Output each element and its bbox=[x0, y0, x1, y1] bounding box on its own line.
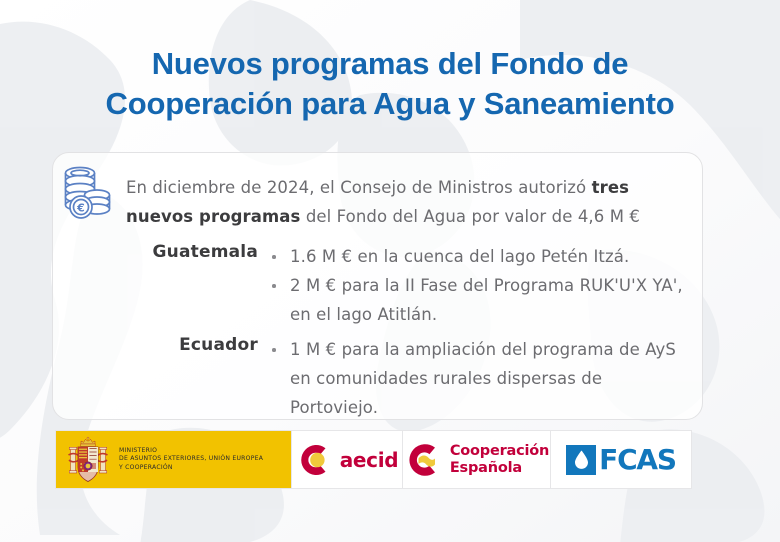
ministerio-line-1: MINISTERIO bbox=[119, 447, 263, 456]
country-label-ecuador: Ecuador bbox=[118, 335, 258, 355]
logo-bar: MINISTERIO DE ASUNTOS EXTERIORES, UNIÓN … bbox=[55, 430, 692, 489]
infographic-page: Nuevos programas del Fondo de Cooperació… bbox=[0, 0, 780, 542]
ministerio-text: MINISTERIO DE ASUNTOS EXTERIORES, UNIÓN … bbox=[119, 447, 263, 473]
ministerio-line-2: DE ASUNTOS EXTERIORES, UNIÓN EUROPEA bbox=[119, 455, 263, 464]
bullet-list-guatemala: 1.6 M € en la cuenca del lago Petén Itzá… bbox=[268, 242, 686, 329]
svg-text:€: € bbox=[76, 202, 85, 215]
logo-aecid: aecid bbox=[291, 431, 402, 488]
aecid-c-mark-icon bbox=[296, 442, 332, 478]
coop-line-1: Cooperación bbox=[450, 443, 549, 460]
list-item: 2 M € para la II Fase del Programa RUK'U… bbox=[268, 271, 686, 329]
water-drop-icon bbox=[566, 445, 596, 475]
list-item: 1 M € para la ampliación del programa de… bbox=[268, 335, 686, 422]
aecid-wordmark: aecid bbox=[340, 448, 399, 472]
page-title-line-1: Nuevos programas del Fondo de bbox=[0, 44, 780, 84]
intro-part-1: En diciembre de 2024, el Consejo de Mini… bbox=[126, 178, 592, 197]
intro-part-2: del Fondo del Agua por valor de 4,6 M € bbox=[300, 207, 640, 226]
page-title: Nuevos programas del Fondo de Cooperació… bbox=[0, 44, 780, 124]
coin-stack-euro-icon: € bbox=[56, 162, 118, 224]
cooperacion-espanola-wordmark: Cooperación Española bbox=[450, 443, 549, 477]
fcas-wordmark: FCAS bbox=[599, 443, 676, 476]
ministerio-line-3: Y COOPERACIÓN bbox=[119, 464, 263, 473]
list-item: 1.6 M € en la cuenca del lago Petén Itzá… bbox=[268, 242, 686, 271]
coop-line-2: Española bbox=[450, 460, 549, 477]
page-title-line-2: Cooperación para Agua y Saneamiento bbox=[0, 84, 780, 124]
logo-cooperacion-espanola: Cooperación Española bbox=[402, 431, 550, 488]
spain-coat-of-arms-icon bbox=[66, 435, 110, 485]
bullet-list-ecuador: 1 M € para la ampliación del programa de… bbox=[268, 335, 686, 422]
cooperacion-espanola-c-mark-icon bbox=[404, 441, 442, 479]
intro-paragraph: En diciembre de 2024, el Consejo de Mini… bbox=[126, 173, 686, 231]
logo-fcas: FCAS bbox=[550, 431, 691, 488]
country-label-guatemala: Guatemala bbox=[118, 242, 258, 262]
logo-ministerio-asuntos-exteriores: MINISTERIO DE ASUNTOS EXTERIORES, UNIÓN … bbox=[56, 431, 291, 488]
